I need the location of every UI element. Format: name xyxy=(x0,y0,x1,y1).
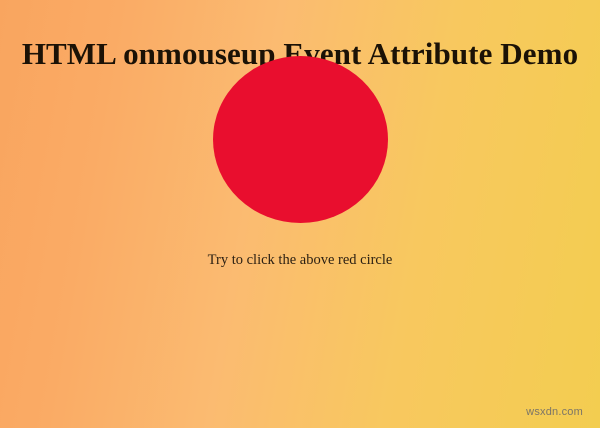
demo-page: HTML onmouseup Event Attribute Demo Try … xyxy=(0,0,600,428)
instruction-text: Try to click the above red circle xyxy=(0,251,600,269)
site-watermark: wsxdn.com xyxy=(526,406,583,419)
red-circle[interactable] xyxy=(213,56,388,223)
circle-container xyxy=(0,56,600,224)
